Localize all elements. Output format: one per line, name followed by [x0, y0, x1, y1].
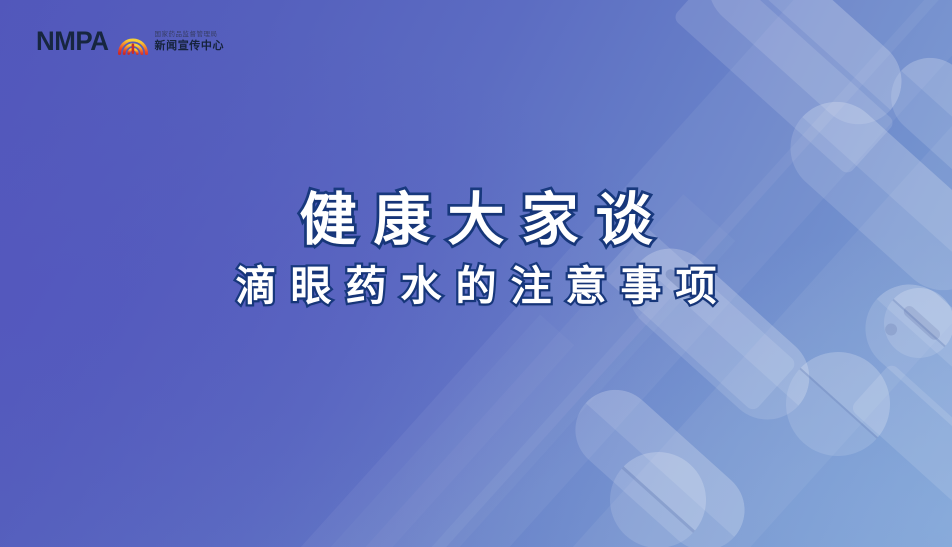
title-block: 健康大家谈 滴眼药水的注意事项 — [0, 192, 952, 307]
slide-subtitle: 滴眼药水的注意事项 — [0, 266, 952, 307]
nmpa-logo: NMPA 国家药品监督 — [36, 24, 224, 58]
slide-canvas: NMPA 国家药品监督 — [0, 0, 952, 547]
nmpa-wordmark: NMPA — [36, 28, 108, 55]
logo-center-line: 新闻宣传中心 — [155, 40, 225, 51]
rainbow-arc-icon — [117, 27, 149, 55]
logo-text-block: 国家药品监督管理局 新闻宣传中心 — [155, 26, 225, 56]
logo-agency-line: 国家药品监督管理局 — [155, 31, 225, 38]
slide-main-title: 健康大家谈 — [0, 192, 952, 249]
